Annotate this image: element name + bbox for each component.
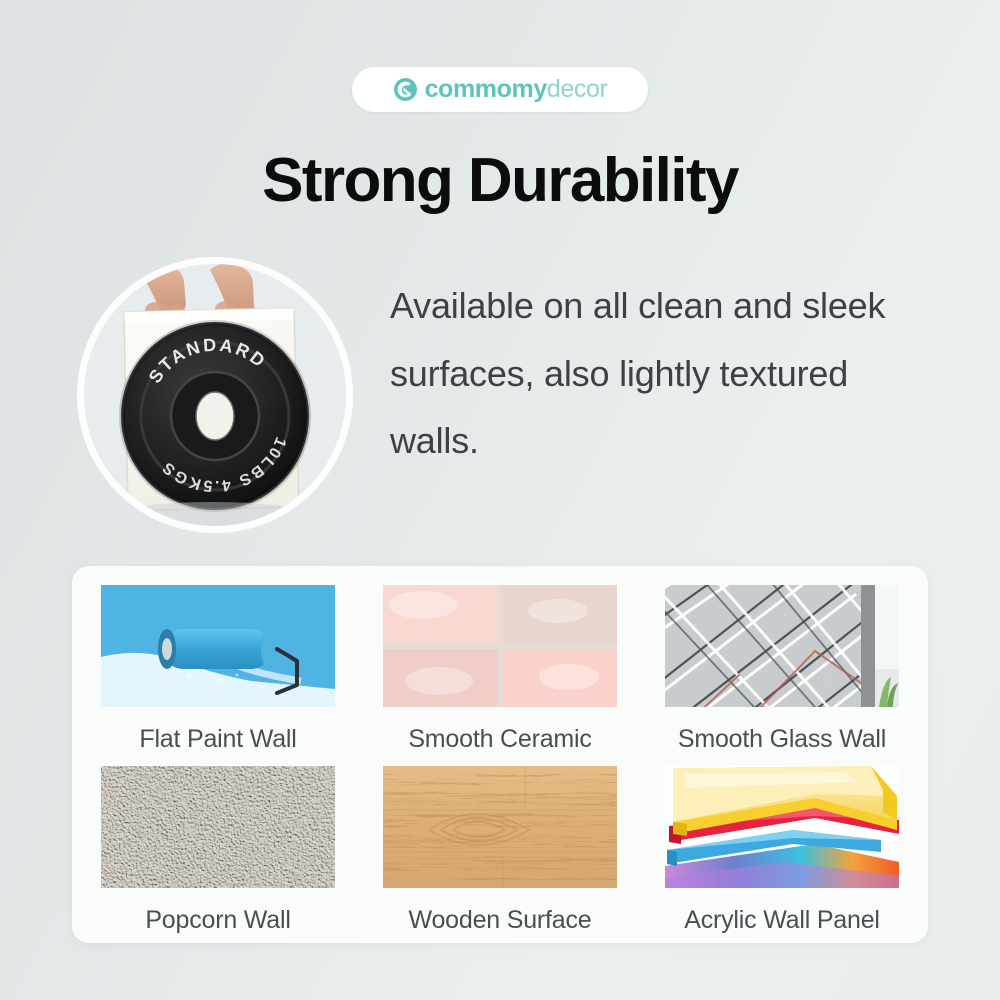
smooth-glass-wall-thumbnail [665,585,899,707]
blue-paint-roller-icon [101,585,335,707]
page-title: Strong Durability [0,148,1000,213]
surface-item-wooden-surface[interactable]: Wooden Surface [378,766,622,935]
pink-ceramic-tile-icon [383,585,617,707]
frosted-glass-mosaic-icon [665,585,899,707]
surface-label: Wooden Surface [409,906,592,935]
acrylic-wall-panel-thumbnail [665,766,899,888]
wooden-surface-thumbnail [383,766,617,888]
surfaces-grid: Flat Paint Wall [96,585,904,927]
smooth-ceramic-thumbnail [383,585,617,707]
surface-label: Popcorn Wall [145,906,290,935]
stacked-acrylic-sheets-icon [665,766,899,888]
hero-description: Available on all clean and sleek surface… [390,272,946,475]
surface-item-flat-paint-wall[interactable]: Flat Paint Wall [96,585,340,754]
surface-item-smooth-glass-wall[interactable]: Smooth Glass Wall [660,585,904,754]
surface-item-popcorn-wall[interactable]: Popcorn Wall [96,766,340,935]
popcorn-wall-thumbnail [101,766,335,888]
durability-demo-photo: STANDARD 10LBS 4.5KGS [84,264,346,526]
hero-section: STANDARD 10LBS 4.5KGS Available on all c… [0,262,1000,532]
surface-label: Acrylic Wall Panel [684,906,880,935]
surface-label: Smooth Glass Wall [678,725,886,754]
flat-paint-wall-thumbnail [101,585,335,707]
weight-plate-on-panel-illustration: STANDARD 10LBS 4.5KGS [84,264,346,526]
brand-name-secondary: decor [547,77,608,102]
brand-wordmark: commomydecor [425,77,608,102]
surface-item-acrylic-wall-panel[interactable]: Acrylic Wall Panel [660,766,904,935]
surface-item-smooth-ceramic[interactable]: Smooth Ceramic [378,585,622,754]
surface-label: Flat Paint Wall [139,725,296,754]
brand-logo: commomydecor [352,67,648,112]
oak-wood-plank-icon [383,766,617,888]
popcorn-texture-icon [101,766,335,888]
commomy-logo-icon [393,77,418,102]
surface-label: Smooth Ceramic [408,725,591,754]
compatible-surfaces-card: Flat Paint Wall [72,566,928,943]
brand-name-primary: commomy [425,77,547,102]
